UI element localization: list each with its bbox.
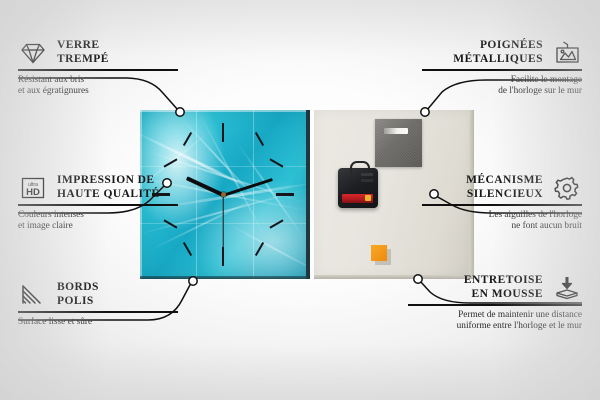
feature-bords-polis: BORDS POLIS Surface lisse et sûre: [18, 281, 178, 328]
clock-tick-11: [183, 132, 192, 146]
feature-mecanisme-silencieux: MÉCANISME SILENCIEUX Les aiguilles de l'…: [422, 174, 582, 233]
feature-entretoise-en-mousse: ENTRETOISE EN MOUSSE Permet de maintenir…: [408, 274, 582, 333]
clock-tick-4: [270, 219, 284, 228]
feature-title-line1: BORDS: [57, 281, 99, 295]
feature-verre-trempe: VERRE TREMPÉ Résistant aux bris et aux é…: [18, 39, 178, 98]
feature-title-line2: POLIS: [57, 295, 99, 309]
feature-subtitle: Résistant aux bris et aux égratignures: [18, 75, 178, 98]
feature-rule: [18, 69, 178, 71]
feature-title-line2: TREMPÉ: [57, 53, 109, 67]
foam-spacer: [371, 245, 387, 261]
feature-title-line2: SILENCIEUX: [466, 188, 543, 202]
movement-hanger-loop: [350, 161, 370, 173]
polished-edges-icon: [18, 282, 48, 308]
feature-subtitle: Permet de maintenir une distance uniform…: [408, 310, 582, 333]
feature-title-line1: MÉCANISME: [466, 174, 543, 188]
ultra-hd-icon: ultra HD: [18, 175, 48, 201]
clock-tick-3: [276, 193, 294, 196]
feature-poignees-metalliques: POIGNÉES MÉTALLIQUES Facilite le montage…: [422, 39, 582, 98]
feature-rule: [408, 304, 582, 306]
infographic-canvas: VERRE TREMPÉ Résistant aux bris et aux é…: [0, 0, 600, 400]
feature-title-line1: IMPRESSION DE: [57, 174, 160, 188]
clock-hour-hand: [186, 176, 224, 197]
feature-impression-haute-qualite: ultra HD IMPRESSION DE HAUTE QUALITÉ Cou…: [18, 174, 178, 233]
feature-title-line2: MÉTALLIQUES: [453, 53, 543, 67]
feature-rule: [18, 204, 178, 206]
clock-tick-1: [255, 132, 264, 146]
feature-subtitle: Facilite le montage de l'horloge sur le …: [422, 75, 582, 98]
feature-subtitle: Couleurs intenses et image claire: [18, 210, 178, 233]
diamond-icon: [18, 40, 48, 66]
wall-hanger-icon: [552, 40, 582, 66]
movement-detail: [361, 173, 373, 187]
feature-title-line2: EN MOUSSE: [464, 288, 543, 302]
metal-hanger-bracket: [375, 119, 422, 167]
feature-rule: [422, 69, 582, 71]
quartz-movement: [338, 168, 378, 208]
clock-tick-5: [255, 242, 264, 256]
feature-title-line2: HAUTE QUALITÉ: [57, 188, 160, 202]
feature-title-line1: POIGNÉES: [453, 39, 543, 53]
feature-subtitle: Les aiguilles de l'horloge ne font aucun…: [422, 210, 582, 233]
battery: [342, 194, 373, 203]
gear-icon: [552, 175, 582, 201]
foam-spacer-icon: [552, 275, 582, 301]
clock-minute-hand: [223, 178, 273, 197]
clock-center-hub: [221, 192, 226, 197]
feature-rule: [18, 311, 178, 313]
clock-tick-10: [164, 158, 178, 167]
clock-tick-7: [183, 242, 192, 256]
battery-terminal: [365, 195, 371, 201]
clock-second-hand: [222, 195, 223, 253]
svg-text:HD: HD: [26, 187, 40, 198]
clock-tick-2: [270, 158, 284, 167]
feature-subtitle: Surface lisse et sûre: [18, 317, 178, 329]
bracket-slot: [384, 128, 408, 134]
feature-rule: [422, 204, 582, 206]
clock-tick-12: [222, 123, 224, 142]
feature-title-line1: ENTRETOISE: [464, 274, 543, 288]
feature-title-line1: VERRE: [57, 39, 109, 53]
